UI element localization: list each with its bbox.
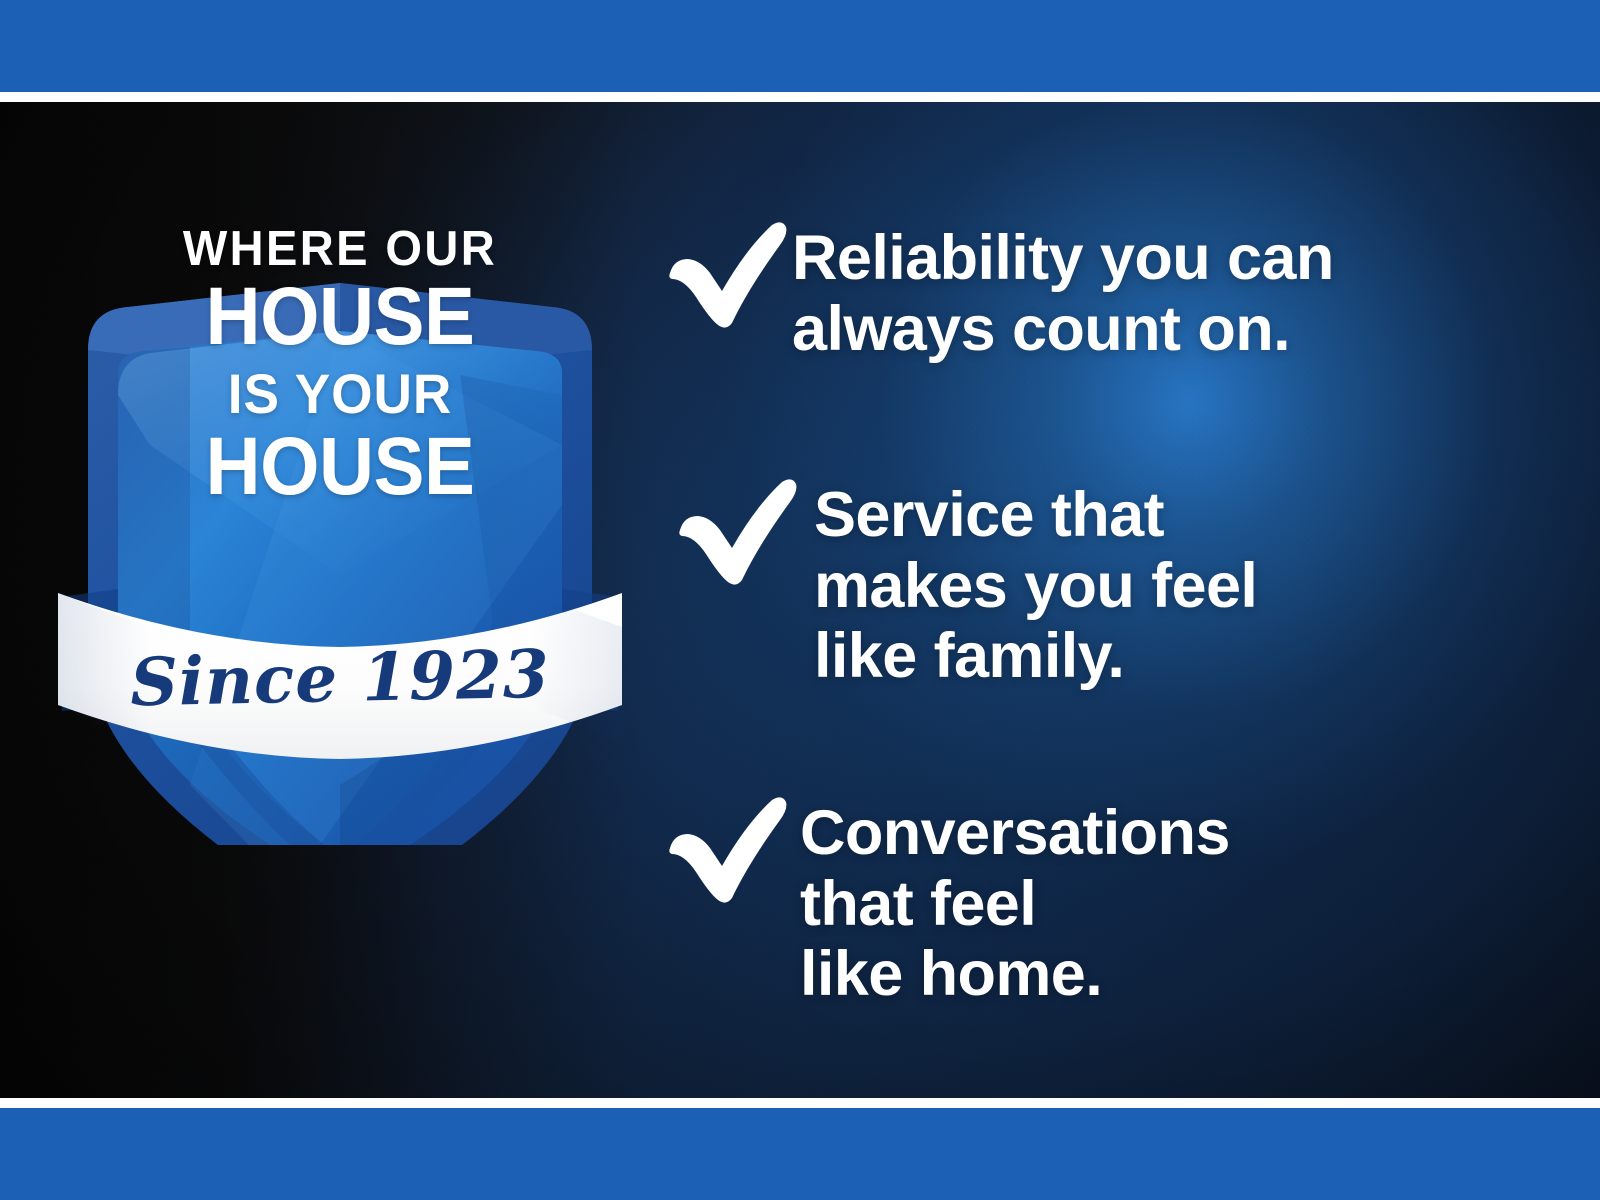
bottom-divider [0, 1098, 1600, 1108]
benefits-list: Reliability you can always count on. Ser… [660, 102, 1560, 1098]
promo-graphic: WHERE OUR HOUSE IS YOUR HOUSE Since 1923… [0, 0, 1600, 1200]
shield-badge: WHERE OUR HOUSE IS YOUR HOUSE Since 1923 [40, 145, 640, 845]
benefit-text-1: Reliability you can always count on. [792, 217, 1334, 364]
benefit-text-2: Service that makes you feel like family. [802, 474, 1257, 692]
benefit-text-3: Conversations that feel like home. [792, 792, 1230, 1010]
top-brand-bar [0, 0, 1600, 92]
shield-graphic [40, 145, 640, 845]
bottom-brand-bar [0, 1108, 1600, 1200]
check-icon [670, 468, 802, 588]
check-icon [660, 211, 792, 331]
benefit-item-1: Reliability you can always count on. [660, 217, 1334, 364]
benefit-item-2: Service that makes you feel like family. [670, 474, 1257, 692]
benefit-item-3: Conversations that feel like home. [660, 792, 1230, 1010]
check-icon [660, 786, 792, 906]
top-divider [0, 92, 1600, 102]
